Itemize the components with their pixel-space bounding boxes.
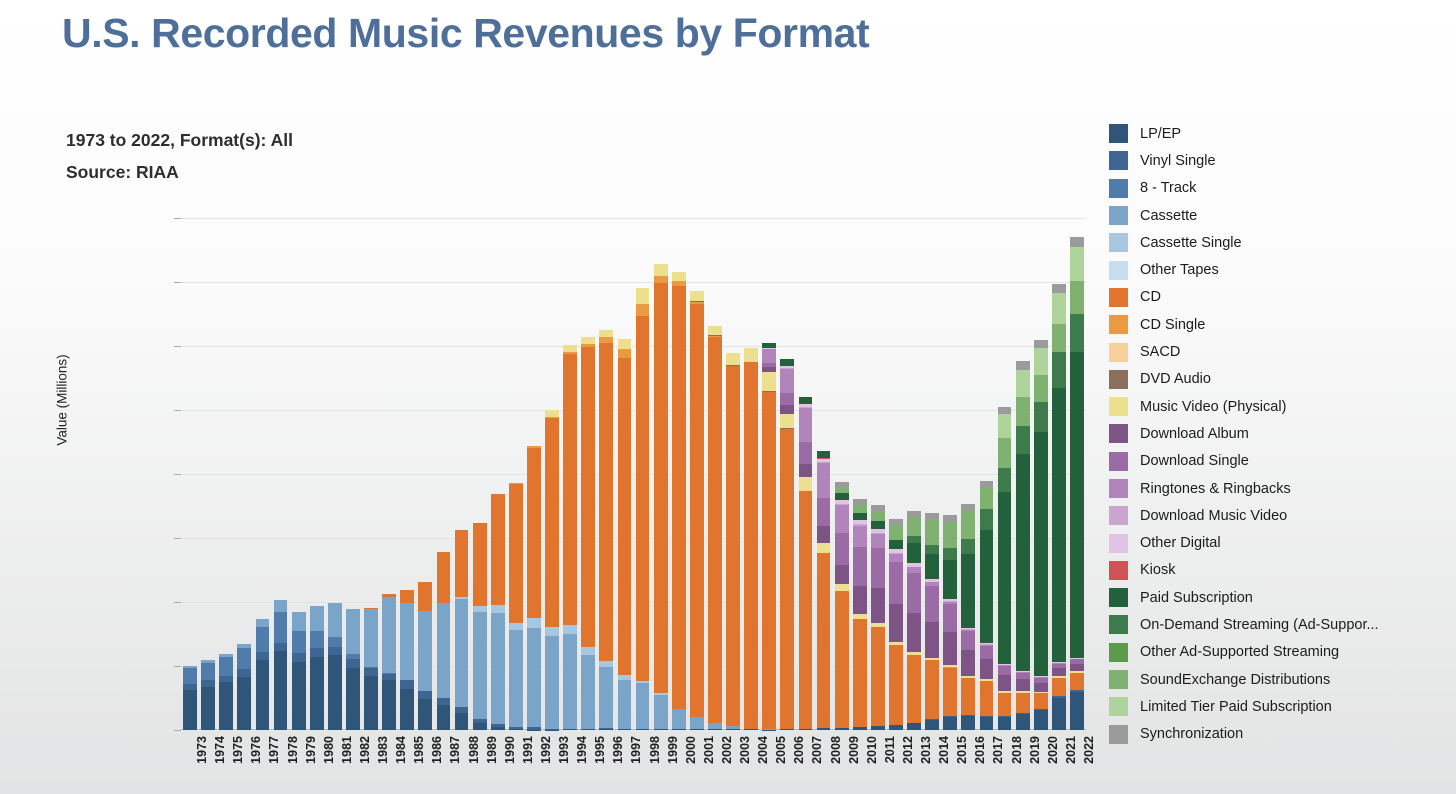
legend-item[interactable]: LP/EP [1109, 120, 1449, 147]
bar-segment[interactable] [780, 414, 794, 428]
bar-segment[interactable] [1016, 370, 1030, 397]
bar-segment[interactable] [799, 477, 813, 490]
bar-segment[interactable] [980, 717, 994, 730]
bar-segment[interactable] [817, 543, 831, 552]
bar-segment[interactable] [817, 498, 831, 525]
bar-segment[interactable] [961, 511, 975, 539]
bar-segment[interactable] [925, 545, 939, 554]
legend-item[interactable]: Synchronization [1109, 721, 1449, 748]
bar-segment[interactable] [274, 651, 288, 730]
bar-segment[interactable] [618, 680, 632, 729]
bar-segment[interactable] [599, 667, 613, 728]
bar-column[interactable] [256, 619, 270, 730]
bar-column[interactable] [346, 609, 360, 730]
bar-segment[interactable] [364, 609, 378, 667]
bar-column[interactable] [708, 326, 722, 730]
bar-column[interactable] [636, 288, 650, 730]
bar-segment[interactable] [799, 464, 813, 478]
bar-segment[interactable] [400, 689, 414, 730]
bar-segment[interactable] [889, 562, 903, 604]
bar-segment[interactable] [943, 515, 957, 522]
bar-segment[interactable] [1016, 397, 1030, 426]
bar-segment[interactable] [545, 636, 559, 729]
bar-segment[interactable] [961, 631, 975, 649]
bar-column[interactable] [690, 291, 704, 730]
bar-segment[interactable] [545, 627, 559, 637]
bar-segment[interactable] [1052, 284, 1066, 293]
bar-column[interactable] [509, 483, 523, 730]
bar-segment[interactable] [871, 521, 885, 529]
bar-segment[interactable] [1052, 388, 1066, 662]
bar-column[interactable] [328, 603, 342, 730]
bar-segment[interactable] [708, 723, 722, 730]
bar-segment[interactable] [925, 660, 939, 719]
bar-segment[interactable] [1052, 293, 1066, 324]
bar-segment[interactable] [889, 525, 903, 540]
bar-segment[interactable] [853, 586, 867, 614]
bar-segment[interactable] [527, 448, 541, 618]
bar-segment[interactable] [708, 326, 722, 335]
bar-segment[interactable] [780, 393, 794, 405]
bar-segment[interactable] [780, 405, 794, 414]
bar-segment[interactable] [1070, 247, 1084, 281]
bar-segment[interactable] [998, 675, 1012, 691]
legend-item[interactable]: Other Digital [1109, 529, 1449, 556]
bar-column[interactable] [292, 612, 306, 730]
bar-column[interactable] [527, 446, 541, 730]
bar-column[interactable] [980, 481, 994, 730]
bar-segment[interactable] [219, 676, 233, 683]
bar-segment[interactable] [889, 725, 903, 730]
bar-segment[interactable] [980, 646, 994, 659]
bar-segment[interactable] [961, 554, 975, 627]
bar-segment[interactable] [835, 533, 849, 564]
bar-segment[interactable] [925, 720, 939, 730]
bar-segment[interactable] [563, 729, 577, 730]
bar-segment[interactable] [1016, 361, 1030, 370]
bar-segment[interactable] [599, 330, 613, 338]
bar-column[interactable] [744, 348, 758, 730]
bar-segment[interactable] [310, 648, 324, 657]
bar-segment[interactable] [491, 613, 505, 724]
bar-segment[interactable] [237, 669, 251, 677]
bar-segment[interactable] [256, 660, 270, 730]
bar-segment[interactable] [871, 588, 885, 623]
bar-segment[interactable] [744, 729, 758, 730]
bar-segment[interactable] [256, 619, 270, 627]
bar-segment[interactable] [762, 372, 776, 391]
bar-segment[interactable] [636, 304, 650, 315]
bar-segment[interactable] [1070, 673, 1084, 690]
bar-segment[interactable] [310, 606, 324, 631]
bar-segment[interactable] [346, 609, 360, 653]
bar-segment[interactable] [943, 604, 957, 632]
bar-segment[interactable] [473, 612, 487, 719]
bar-segment[interactable] [726, 353, 740, 365]
bar-segment[interactable] [744, 362, 758, 728]
bar-segment[interactable] [943, 717, 957, 730]
bar-segment[interactable] [1034, 402, 1048, 433]
bar-segment[interactable] [925, 622, 939, 658]
bar-column[interactable] [545, 410, 559, 730]
bar-segment[interactable] [274, 600, 288, 612]
bar-segment[interactable] [292, 662, 306, 730]
bar-segment[interactable] [690, 729, 704, 730]
bar-segment[interactable] [599, 729, 613, 730]
bar-segment[interactable] [581, 647, 595, 655]
bar-segment[interactable] [346, 659, 360, 668]
bar-segment[interactable] [1052, 668, 1066, 676]
legend-item[interactable]: On-Demand Streaming (Ad-Suppor... [1109, 611, 1449, 638]
legend-item[interactable]: 8 - Track [1109, 175, 1449, 202]
bar-segment[interactable] [545, 410, 559, 417]
bar-segment[interactable] [871, 726, 885, 730]
bar-segment[interactable] [998, 468, 1012, 492]
bar-segment[interactable] [1034, 340, 1048, 348]
bar-segment[interactable] [889, 645, 903, 724]
bar-segment[interactable] [1070, 314, 1084, 352]
bar-segment[interactable] [509, 729, 523, 730]
bar-segment[interactable] [292, 631, 306, 652]
bar-segment[interactable] [762, 392, 776, 729]
bar-column[interactable] [1034, 340, 1048, 730]
legend-item[interactable]: Download Album [1109, 420, 1449, 447]
bar-segment[interactable] [654, 729, 668, 730]
bar-segment[interactable] [853, 727, 867, 730]
bar-segment[interactable] [708, 729, 722, 730]
bar-column[interactable] [310, 606, 324, 730]
bar-segment[interactable] [328, 655, 342, 730]
legend-item[interactable]: CD Single [1109, 311, 1449, 338]
bar-segment[interactable] [817, 451, 831, 458]
bar-segment[interactable] [817, 526, 831, 544]
bar-segment[interactable] [889, 540, 903, 549]
bar-segment[interactable] [780, 729, 794, 730]
bar-segment[interactable] [274, 612, 288, 642]
bar-column[interactable] [1016, 361, 1030, 730]
bar-segment[interactable] [943, 632, 957, 665]
bar-segment[interactable] [961, 716, 975, 730]
bar-segment[interactable] [690, 304, 704, 717]
bar-segment[interactable] [889, 604, 903, 642]
bar-segment[interactable] [618, 729, 632, 730]
bar-segment[interactable] [1016, 679, 1030, 691]
legend-item[interactable]: Paid Subscription [1109, 584, 1449, 611]
bar-segment[interactable] [799, 397, 813, 404]
bar-segment[interactable] [835, 728, 849, 730]
bar-segment[interactable] [328, 603, 342, 637]
bar-column[interactable] [889, 519, 903, 730]
bar-segment[interactable] [998, 407, 1012, 414]
bar-segment[interactable] [672, 272, 686, 281]
bar-segment[interactable] [980, 530, 994, 643]
bar-segment[interactable] [455, 599, 469, 707]
bar-segment[interactable] [654, 276, 668, 283]
bar-segment[interactable] [1016, 426, 1030, 454]
bar-segment[interactable] [980, 488, 994, 509]
bar-column[interactable] [998, 407, 1012, 730]
legend-item[interactable]: SoundExchange Distributions [1109, 666, 1449, 693]
bar-column[interactable] [1070, 237, 1084, 730]
legend-item[interactable]: Download Single [1109, 448, 1449, 475]
bar-segment[interactable] [183, 668, 197, 684]
legend-item[interactable]: Other Tapes [1109, 256, 1449, 283]
bar-segment[interactable] [780, 429, 794, 729]
legend-item[interactable]: Limited Tier Paid Subscription [1109, 693, 1449, 720]
bar-column[interactable] [382, 594, 396, 730]
bar-segment[interactable] [943, 522, 957, 548]
bar-segment[interactable] [853, 526, 867, 548]
bar-segment[interactable] [726, 729, 740, 730]
bar-segment[interactable] [636, 288, 650, 304]
bar-segment[interactable] [998, 693, 1012, 715]
bar-segment[interactable] [799, 408, 813, 442]
bar-segment[interactable] [925, 520, 939, 545]
bar-segment[interactable] [563, 345, 577, 352]
bar-segment[interactable] [1052, 324, 1066, 353]
bar-segment[interactable] [636, 316, 650, 681]
bar-column[interactable] [183, 666, 197, 730]
bar-segment[interactable] [509, 484, 523, 623]
bar-segment[interactable] [400, 680, 414, 689]
bar-segment[interactable] [636, 683, 650, 728]
bar-segment[interactable] [219, 657, 233, 676]
bar-segment[interactable] [418, 699, 432, 730]
bar-segment[interactable] [708, 337, 722, 722]
bar-segment[interactable] [835, 505, 849, 533]
bar-column[interactable] [473, 523, 487, 730]
bar-segment[interactable] [400, 590, 414, 602]
bar-segment[interactable] [310, 657, 324, 730]
bar-segment[interactable] [907, 536, 921, 543]
bar-segment[interactable] [672, 286, 686, 709]
bar-segment[interactable] [799, 729, 813, 730]
legend-item[interactable]: Kiosk [1109, 557, 1449, 584]
bar-segment[interactable] [853, 513, 867, 520]
bar-segment[interactable] [817, 463, 831, 498]
bar-segment[interactable] [201, 687, 215, 730]
bar-column[interactable] [581, 337, 595, 730]
bar-column[interactable] [364, 608, 378, 730]
bar-segment[interactable] [1034, 710, 1048, 730]
bar-segment[interactable] [817, 728, 831, 730]
bar-segment[interactable] [672, 729, 686, 730]
bar-segment[interactable] [1034, 432, 1048, 676]
bar-segment[interactable] [998, 492, 1012, 663]
bar-column[interactable] [1052, 284, 1066, 730]
bar-segment[interactable] [961, 539, 975, 554]
bar-column[interactable] [943, 515, 957, 730]
bar-column[interactable] [853, 499, 867, 730]
bar-segment[interactable] [961, 504, 975, 511]
bar-segment[interactable] [581, 337, 595, 344]
bar-segment[interactable] [1034, 375, 1048, 402]
bar-segment[interactable] [654, 283, 668, 693]
bar-segment[interactable] [455, 530, 469, 597]
bar-segment[interactable] [346, 668, 360, 730]
bar-segment[interactable] [835, 565, 849, 585]
bar-segment[interactable] [274, 643, 288, 651]
bar-segment[interactable] [817, 553, 831, 728]
bar-segment[interactable] [618, 358, 632, 675]
legend-item[interactable]: Vinyl Single [1109, 147, 1449, 174]
bar-column[interactable] [618, 339, 632, 730]
bar-segment[interactable] [237, 677, 251, 730]
bar-segment[interactable] [998, 414, 1012, 438]
bar-segment[interactable] [527, 618, 541, 628]
bar-segment[interactable] [853, 619, 867, 727]
bar-column[interactable] [563, 345, 577, 730]
bar-segment[interactable] [799, 442, 813, 464]
bar-column[interactable] [672, 272, 686, 730]
bar-segment[interactable] [690, 291, 704, 302]
bar-segment[interactable] [871, 505, 885, 512]
bar-segment[interactable] [1016, 714, 1030, 730]
bar-column[interactable] [418, 582, 432, 731]
bar-segment[interactable] [1034, 693, 1048, 708]
bar-segment[interactable] [1016, 693, 1030, 713]
legend-item[interactable]: Ringtones & Ringbacks [1109, 475, 1449, 502]
bar-segment[interactable] [998, 438, 1012, 468]
legend-item[interactable]: DVD Audio [1109, 366, 1449, 393]
bar-segment[interactable] [961, 678, 975, 716]
bar-segment[interactable] [943, 668, 957, 717]
bar-segment[interactable] [328, 637, 342, 647]
bar-segment[interactable] [853, 505, 867, 513]
bar-segment[interactable] [1070, 664, 1084, 672]
bar-segment[interactable] [925, 586, 939, 622]
bar-segment[interactable] [943, 560, 957, 599]
bar-segment[interactable] [1034, 683, 1048, 692]
bar-segment[interactable] [853, 547, 867, 585]
bar-segment[interactable] [907, 723, 921, 730]
bar-segment[interactable] [599, 343, 613, 661]
bar-column[interactable] [780, 359, 794, 730]
bar-column[interactable] [762, 343, 776, 730]
bar-segment[interactable] [1034, 348, 1048, 375]
bar-segment[interactable] [672, 709, 686, 729]
bar-column[interactable] [907, 511, 921, 730]
bar-column[interactable] [274, 600, 288, 730]
bar-segment[interactable] [237, 648, 251, 669]
bar-segment[interactable] [961, 650, 975, 676]
bar-segment[interactable] [907, 573, 921, 613]
bar-segment[interactable] [364, 676, 378, 730]
bar-segment[interactable] [292, 653, 306, 662]
bar-segment[interactable] [690, 717, 704, 729]
bar-segment[interactable] [382, 597, 396, 673]
bar-segment[interactable] [654, 695, 668, 729]
bar-segment[interactable] [871, 512, 885, 521]
bar-column[interactable] [871, 505, 885, 730]
bar-column[interactable] [400, 590, 414, 730]
bar-segment[interactable] [762, 349, 776, 363]
bar-column[interactable] [925, 513, 939, 730]
legend-item[interactable]: CD [1109, 284, 1449, 311]
bar-column[interactable] [491, 494, 505, 730]
legend-item[interactable]: Download Music Video [1109, 502, 1449, 529]
bar-segment[interactable] [943, 548, 957, 560]
bar-segment[interactable] [907, 543, 921, 563]
bar-segment[interactable] [201, 663, 215, 681]
bar-segment[interactable] [980, 509, 994, 530]
legend-item[interactable]: Cassette Single [1109, 229, 1449, 256]
bar-segment[interactable] [889, 554, 903, 562]
bar-segment[interactable] [799, 491, 813, 729]
bar-segment[interactable] [581, 655, 595, 729]
bar-segment[interactable] [455, 713, 469, 730]
bar-segment[interactable] [473, 723, 487, 730]
bar-segment[interactable] [1070, 352, 1084, 658]
bar-segment[interactable] [581, 729, 595, 730]
bar-segment[interactable] [183, 690, 197, 730]
bar-segment[interactable] [328, 647, 342, 655]
bar-column[interactable] [437, 552, 451, 730]
bar-segment[interactable] [418, 582, 432, 612]
bar-segment[interactable] [726, 366, 740, 725]
bar-segment[interactable] [871, 548, 885, 588]
bar-segment[interactable] [437, 603, 451, 698]
bar-segment[interactable] [780, 369, 794, 394]
bar-segment[interactable] [527, 628, 541, 728]
bar-segment[interactable] [871, 627, 885, 726]
bar-segment[interactable] [618, 349, 632, 358]
bar-segment[interactable] [509, 630, 523, 727]
bar-segment[interactable] [980, 481, 994, 488]
bar-segment[interactable] [491, 727, 505, 730]
bar-segment[interactable] [437, 705, 451, 730]
bar-column[interactable] [237, 644, 251, 730]
bar-segment[interactable] [491, 494, 505, 604]
bar-segment[interactable] [1052, 352, 1066, 388]
bar-segment[interactable] [292, 612, 306, 631]
bar-segment[interactable] [563, 634, 577, 729]
bar-segment[interactable] [744, 348, 758, 361]
bar-segment[interactable] [998, 666, 1012, 675]
bar-segment[interactable] [256, 627, 270, 652]
bar-segment[interactable] [1070, 692, 1084, 730]
bar-column[interactable] [961, 504, 975, 730]
bar-segment[interactable] [418, 611, 432, 691]
bar-segment[interactable] [998, 717, 1012, 730]
bar-segment[interactable] [473, 523, 487, 606]
bar-segment[interactable] [382, 680, 396, 730]
bar-segment[interactable] [1052, 678, 1066, 697]
legend-item[interactable]: Other Ad-Supported Streaming [1109, 639, 1449, 666]
bar-segment[interactable] [871, 534, 885, 548]
bar-segment[interactable] [563, 625, 577, 634]
bar-column[interactable] [817, 451, 831, 730]
bar-segment[interactable] [563, 354, 577, 625]
legend-item[interactable]: Music Video (Physical) [1109, 393, 1449, 420]
bar-segment[interactable] [925, 554, 939, 579]
bar-segment[interactable] [654, 264, 668, 276]
bar-segment[interactable] [1016, 454, 1030, 671]
bar-segment[interactable] [835, 591, 849, 728]
bar-segment[interactable] [1052, 698, 1066, 730]
legend-item[interactable]: Cassette [1109, 202, 1449, 229]
legend-item[interactable]: SACD [1109, 338, 1449, 365]
bar-segment[interactable] [980, 659, 994, 680]
bar-segment[interactable] [310, 631, 324, 648]
bar-column[interactable] [654, 264, 668, 730]
bar-segment[interactable] [636, 729, 650, 730]
bar-segment[interactable] [364, 668, 378, 675]
bar-segment[interactable] [491, 605, 505, 613]
bar-segment[interactable] [835, 493, 849, 500]
bar-segment[interactable] [1070, 237, 1084, 247]
bar-column[interactable] [219, 654, 233, 730]
